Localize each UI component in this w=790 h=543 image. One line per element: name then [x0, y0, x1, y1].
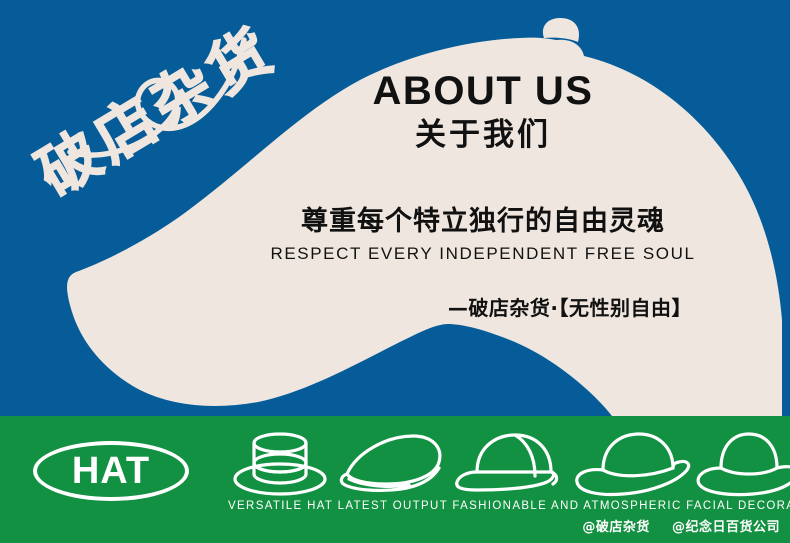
- flat-cap-icon: [335, 430, 450, 498]
- hat-icon-row: [225, 430, 780, 498]
- bucket-hat-icon: [225, 430, 335, 498]
- poster-canvas: 破店杂货 ABOUT US 关于我们 尊重每个特立独行的自由灵魂 RESPECT…: [0, 0, 790, 543]
- slogan-chinese: 尊重每个特立独行的自由灵魂: [268, 199, 698, 238]
- slogan-english: RESPECT EVERY INDEPENDENT FREE SOUL: [268, 244, 698, 264]
- handle-secondary: @纪念日百货公司: [672, 520, 780, 535]
- band-handles: @破店杂货 @纪念日百货公司: [582, 516, 780, 535]
- bowler-hat-icon: [693, 430, 790, 498]
- hero-blue-panel: 破店杂货 ABOUT US 关于我们 尊重每个特立独行的自由灵魂 RESPECT…: [0, 0, 790, 416]
- hat-logo: HAT: [33, 441, 189, 501]
- attribution-line: —破店杂货·【无性别自由】: [268, 292, 698, 321]
- baseball-cap-icon: [453, 430, 573, 498]
- wide-brim-floppy-hat-icon: [573, 430, 693, 498]
- handle-primary: @破店杂货: [582, 520, 650, 535]
- bottom-green-band: HAT: [0, 416, 790, 543]
- band-tagline: VERSATILE HAT LATEST OUTPUT FASHIONABLE …: [228, 500, 784, 512]
- hat-logo-text: HAT: [33, 441, 189, 501]
- about-text-block: ABOUT US 关于我们 尊重每个特立独行的自由灵魂 RESPECT EVER…: [268, 70, 698, 321]
- about-title-en: ABOUT US: [268, 70, 698, 112]
- about-title-cn: 关于我们: [268, 116, 698, 155]
